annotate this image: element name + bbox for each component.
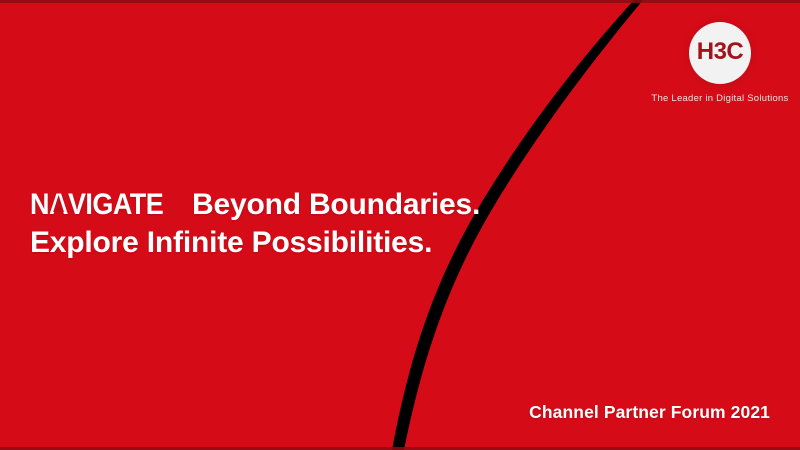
event-title: Channel Partner Forum 2021	[529, 402, 770, 423]
headline-line-1-rest: Beyond Boundaries.	[192, 188, 480, 221]
brand-tagline: The Leader in Digital Solutions	[646, 93, 794, 104]
navigate-arrow-a-icon: A	[49, 186, 68, 224]
navigate-wordmark: NAVIGATE	[30, 186, 163, 224]
navigate-prefix: N	[30, 188, 49, 221]
presentation-slide: H3C The Leader in Digital Solutions NAVI…	[0, 0, 800, 450]
h3c-wordmark: H3C	[697, 40, 744, 64]
brand-logo-lockup: H3C The Leader in Digital Solutions	[646, 22, 794, 104]
headline-line-2: Explore Infinite Possibilities.	[30, 224, 480, 262]
headline-line-1: NAVIGATEBeyond Boundaries.	[30, 186, 480, 224]
h3c-circle-logo: H3C	[689, 22, 751, 84]
slide-headline: NAVIGATEBeyond Boundaries. Explore Infin…	[30, 186, 480, 262]
top-edge-band	[0, 0, 800, 3]
navigate-suffix: VIGATE	[68, 188, 163, 221]
